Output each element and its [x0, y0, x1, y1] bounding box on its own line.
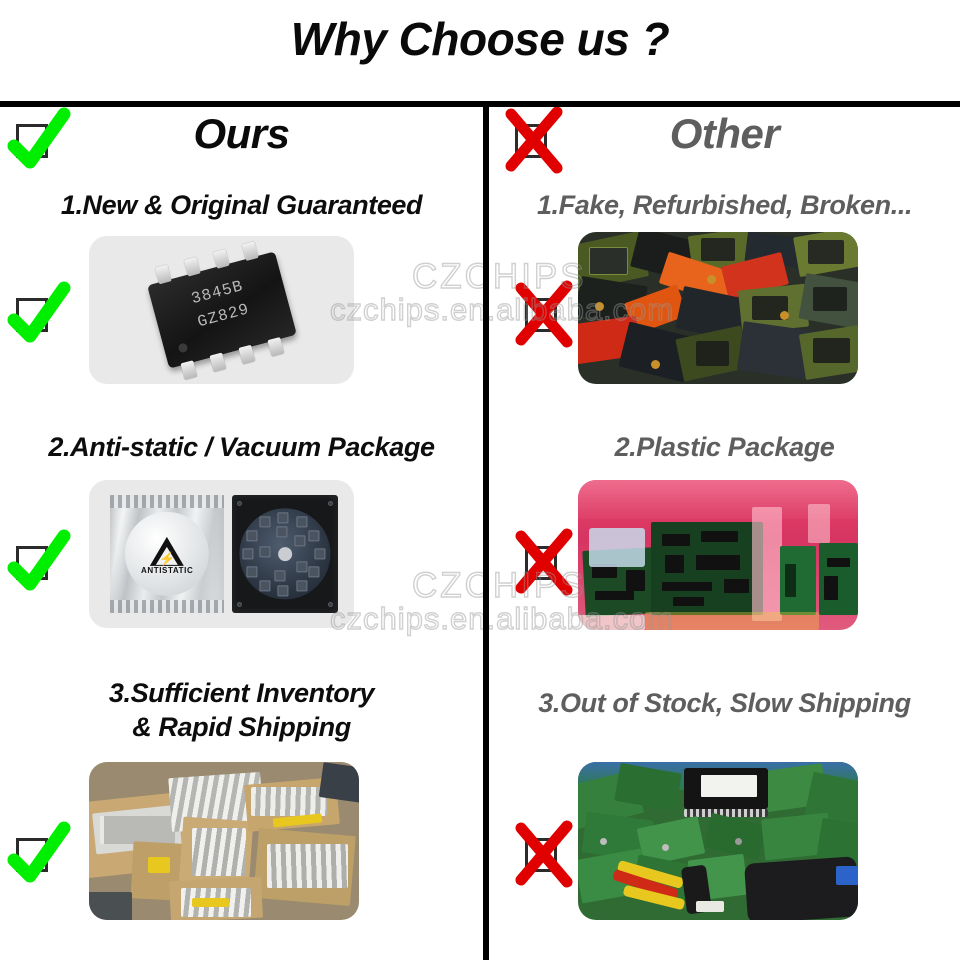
- scrap-pcb-pile-photo: [578, 762, 858, 920]
- ours-row-3-title-line2: & Rapid Shipping: [0, 710, 483, 744]
- antistatic-label-text: ANTISTATIC: [125, 566, 209, 575]
- ours-column-header: Ours: [0, 104, 483, 184]
- reel-hub: [278, 547, 293, 562]
- new-original-chip-photo: 3845B GZ829: [89, 236, 354, 384]
- ours-row-2-title: 2.Anti-static / Vacuum Package: [0, 430, 483, 464]
- antistatic-bag: ⚡ ANTISTATIC: [110, 495, 224, 613]
- infographic-page: Why Choose us ? Ours 1.New & Original Gu…: [0, 0, 960, 960]
- ours-column: Ours 1.New & Original Guaranteed 3845B G…: [0, 104, 483, 960]
- vertical-divider: [483, 104, 489, 960]
- other-row-2-title: 2.Plastic Package: [489, 430, 960, 464]
- fake-broken-chips-photo: [578, 232, 858, 384]
- cross-mark-icon-row-2: [517, 540, 557, 580]
- antistatic-label-disc: ⚡ ANTISTATIC: [125, 512, 209, 596]
- ours-row-3-title-line1: 3.Sufficient Inventory: [0, 676, 483, 710]
- check-mark-icon-row-2: [8, 540, 48, 580]
- other-row-1: 1.Fake, Refurbished, Broken...: [489, 188, 960, 440]
- check-mark-icon-row-1: [8, 292, 48, 332]
- ours-label: Ours: [0, 110, 483, 158]
- chip-pin1-dot: [177, 342, 188, 353]
- cross-mark-icon-row-1: [517, 292, 557, 332]
- inventory-boxes-photo: [89, 762, 359, 920]
- check-mark-icon-row-3: [8, 832, 48, 872]
- horizontal-divider: [0, 101, 960, 107]
- ours-row-1-title: 1.New & Original Guaranteed: [0, 188, 483, 222]
- ours-row-3: 3.Sufficient Inventory & Rapid Shipping: [0, 676, 483, 960]
- other-row-3-title: 3.Out of Stock, Slow Shipping: [489, 686, 960, 720]
- soic8-chip: 3845B GZ829: [147, 251, 297, 368]
- page-title: Why Choose us ?: [0, 12, 960, 66]
- antistatic-vacuum-package-photo: ⚡ ANTISTATIC: [89, 480, 354, 628]
- component-reel: [240, 508, 331, 599]
- other-column: Other 1.Fake, Refurbished, Broken...: [489, 104, 960, 960]
- lightning-bolt-icon: ⚡: [159, 551, 175, 564]
- other-row-1-title: 1.Fake, Refurbished, Broken...: [489, 188, 960, 222]
- other-row-3: 3.Out of Stock, Slow Shipping: [489, 676, 960, 960]
- ours-row-2: 2.Anti-static / Vacuum Package ⚡ ANTISTA…: [0, 430, 483, 682]
- other-column-header: Other: [489, 104, 960, 184]
- other-row-2: 2.Plastic Package: [489, 430, 960, 682]
- reel-tray: [232, 495, 338, 613]
- cross-mark-icon-row-3: [517, 832, 557, 872]
- plastic-package-photo: [578, 480, 858, 630]
- other-label: Other: [489, 110, 960, 158]
- ours-row-1: 1.New & Original Guaranteed 3845B GZ829: [0, 188, 483, 440]
